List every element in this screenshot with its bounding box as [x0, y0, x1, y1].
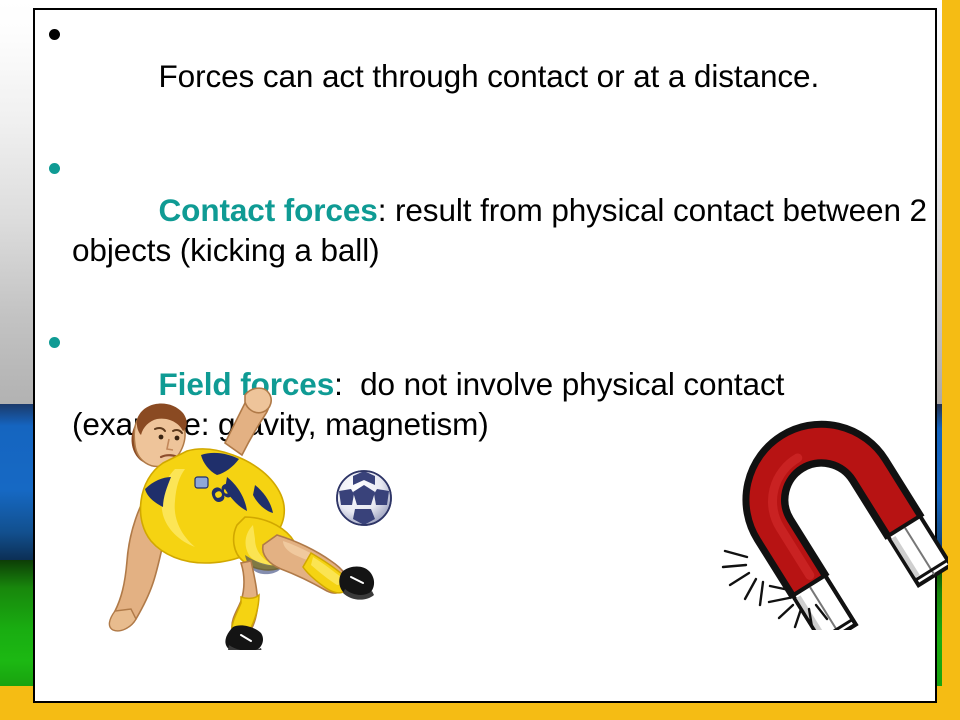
spark-lines-left	[723, 551, 763, 605]
left-decorative-band	[0, 0, 33, 690]
band-segment-green	[0, 560, 33, 686]
bullet-body-1: Forces can act through contact or at a d…	[159, 58, 820, 94]
band-segment-blue	[0, 404, 33, 560]
bullet-dot-icon	[49, 163, 60, 174]
band-segment-gold	[0, 686, 33, 690]
bullet-dot-icon	[49, 337, 60, 348]
content-panel: Forces can act through contact or at a d…	[33, 8, 937, 703]
soccer-ball-image	[333, 467, 395, 529]
band-segment-gray	[0, 0, 33, 404]
slide-canvas: Forces can act through contact or at a d…	[0, 0, 960, 720]
bullet-text-1: Forces can act through contact or at a d…	[72, 16, 819, 136]
magnet-figure	[719, 415, 948, 630]
bullet-text-2: Contact forces: result from physical con…	[72, 150, 929, 310]
list-item: Forces can act through contact or at a d…	[45, 16, 929, 136]
horseshoe-magnet-image	[713, 415, 948, 630]
list-item: Contact forces: result from physical con…	[45, 150, 929, 310]
bullet-dot-icon	[49, 29, 60, 40]
bullet-term-2: Contact forces	[159, 192, 378, 228]
